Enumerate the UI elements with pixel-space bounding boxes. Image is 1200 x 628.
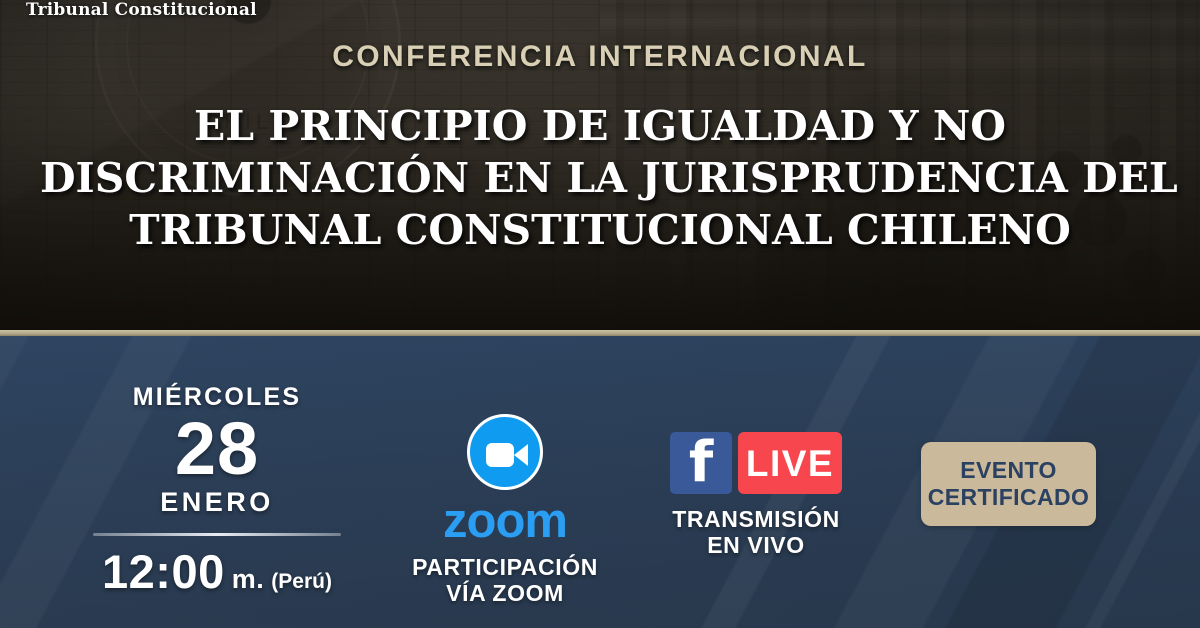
- zoom-wordmark: zoom: [385, 496, 625, 546]
- event-time: 12:00: [102, 545, 225, 598]
- video-camera-lens-icon: [514, 444, 528, 466]
- page-title: EL PRINCIPIO DE IGUALDAD Y NO DISCRIMINA…: [40, 100, 1160, 256]
- event-date-block: MIÉRCOLES 28 ENERO 12:00m.(Perú): [72, 384, 362, 596]
- certified-event-badge: EVENTO CERTIFICADO: [921, 442, 1096, 526]
- certified-event-text: EVENTO CERTIFICADO: [928, 457, 1090, 511]
- date-month: ENERO: [72, 487, 362, 517]
- facebook-caption-line-2: EN VIVO: [638, 532, 874, 558]
- zoom-icon: [467, 414, 543, 490]
- title-line-3: TRIBUNAL CONSTITUCIONAL CHILENO: [40, 204, 1160, 256]
- certified-event-line-2: CERTIFICADO: [928, 484, 1090, 511]
- zoom-caption-line-2: VÍA ZOOM: [385, 580, 625, 606]
- video-camera-body-icon: [486, 443, 514, 467]
- title-line-2: DISCRIMINACIÓN EN LA JURISPRUDENCIA DEL: [40, 152, 1160, 204]
- facebook-f-glyph: f: [670, 435, 732, 491]
- event-time-line: 12:00m.(Perú): [72, 548, 362, 596]
- facebook-live-badges: f LIVE: [638, 432, 874, 494]
- info-section: MIÉRCOLES 28 ENERO 12:00m.(Perú) zoom PA…: [0, 336, 1200, 628]
- live-label: LIVE: [746, 445, 834, 482]
- date-day-number: 28: [72, 413, 362, 485]
- facebook-caption-line-1: TRANSMISIÓN: [638, 506, 874, 532]
- event-kicker: CONFERENCIA INTERNACIONAL: [0, 40, 1200, 74]
- live-badge: LIVE: [738, 432, 842, 494]
- brand-logo-text: Tribunal Constitucional: [26, 0, 257, 20]
- title-line-1: EL PRINCIPIO DE IGUALDAD Y NO: [40, 100, 1160, 152]
- hero-section: CHILE Tribunal Constitucional CONFERENCI…: [0, 0, 1200, 330]
- event-timezone: (Perú): [271, 570, 332, 593]
- zoom-caption: PARTICIPACIÓN VÍA ZOOM: [385, 554, 625, 606]
- facebook-f-icon[interactable]: f: [670, 432, 732, 494]
- certified-event-line-1: EVENTO: [928, 457, 1090, 484]
- facebook-caption: TRANSMISIÓN EN VIVO: [638, 506, 874, 558]
- section-divider: [0, 330, 1200, 336]
- event-time-suffix: m.: [232, 564, 265, 594]
- event-poster: CHILE Tribunal Constitucional CONFERENCI…: [0, 0, 1200, 628]
- zoom-participation-block[interactable]: zoom PARTICIPACIÓN VÍA ZOOM: [385, 414, 625, 606]
- date-divider: [93, 533, 341, 536]
- zoom-caption-line-1: PARTICIPACIÓN: [385, 554, 625, 580]
- facebook-live-block[interactable]: f LIVE TRANSMISIÓN EN VIVO: [638, 432, 874, 558]
